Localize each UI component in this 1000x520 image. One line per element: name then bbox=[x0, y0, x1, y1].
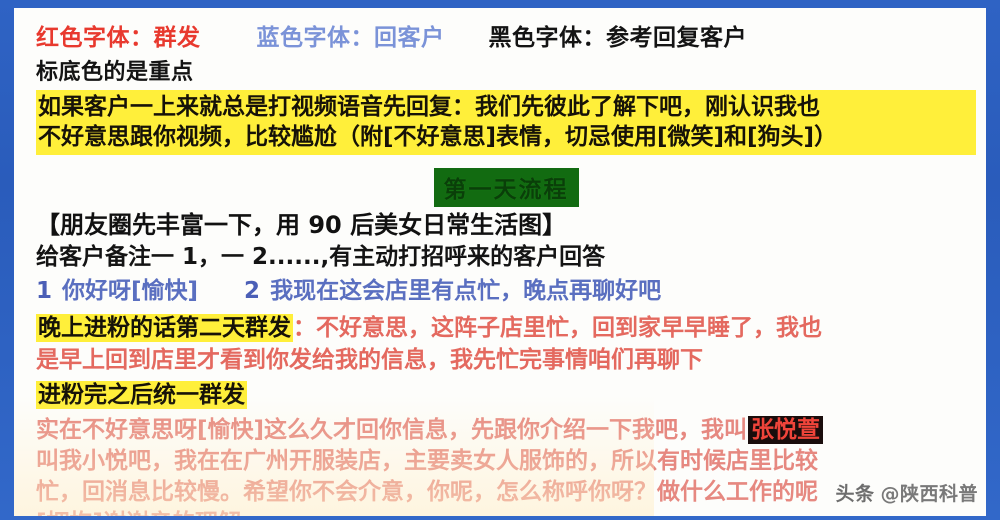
closing-line-1-text: 实在不好意思呀[愉快]这么久才回你信息，先跟你介绍一下我吧，我叫 bbox=[36, 417, 747, 443]
closing-line-4: [拥抱]谢谢亲的理解 bbox=[36, 508, 976, 516]
day-one-title-row: 第一天流程 bbox=[36, 166, 976, 208]
watermark: 头条 @陕西科普 bbox=[835, 479, 978, 506]
highlight-paragraph-line-2: 不好意思跟你视频，比较尴尬（附[不好意思]表情，切忌使用[微笑]和[狗头]） bbox=[38, 122, 972, 152]
second-day-red-line-2: 是早上回到店里才看到你发给我的信息，我先忙完事情咱们再聊下 bbox=[36, 344, 976, 376]
second-day-highlight-label: 晚上进粉的话第二天群发 bbox=[36, 314, 293, 342]
day-one-bullet-2: 给客户备注一 1，一 2......,有主动打招呼来的客户回答 bbox=[36, 242, 976, 273]
closing-line-1: 实在不好意思呀[愉快]这么久才回你信息，先跟你介绍一下我吧，我叫张悦萱 bbox=[36, 415, 976, 446]
second-day-colon: ： bbox=[293, 315, 316, 341]
slide-frame: 红色字体：群发 蓝色字体：回客户 黑色字体：参考回复客户 标底色的是重点 如果客… bbox=[0, 0, 1000, 520]
legend-note: 标底色的是重点 bbox=[36, 52, 976, 86]
reply-1-number: 1 bbox=[36, 278, 52, 304]
day-one-bullet-1: 【朋友圈先丰富一下，用 90 后美女日常生活图】 bbox=[36, 208, 976, 242]
slide-page: 红色字体：群发 蓝色字体：回客户 黑色字体：参考回复客户 标底色的是重点 如果客… bbox=[14, 8, 986, 516]
day-one-title: 第一天流程 bbox=[434, 168, 579, 207]
closing-line-2: 叫我小悦吧，我在在广州开服装店，主要卖女人服饰的，所以有时候店里比较 bbox=[36, 446, 976, 477]
reply-options-row: 1你好呀[愉快]2我现在这会店里有点忙，晚点再聊好吧 bbox=[36, 275, 976, 308]
second-day-row: 晚上进粉的话第二天群发：不好意思，这阵子店里忙，回到家早早睡了，我也 bbox=[36, 312, 976, 344]
highlight-paragraph-line-1: 如果客户一上来就总是打视频语音先回复：我们先彼此了解下吧，刚认识我也 bbox=[38, 92, 972, 122]
closing-name-chip: 张悦萱 bbox=[748, 416, 823, 444]
watermark-handle: @陕西科普 bbox=[880, 479, 978, 506]
after-fans-row: 进粉完之后统一群发 bbox=[36, 379, 976, 411]
legend-red-label: 红色字体：群发 bbox=[36, 18, 201, 52]
legend-blue-label: 蓝色字体：回客户 bbox=[257, 18, 445, 52]
legend-black-label: 黑色字体：参考回复客户 bbox=[489, 18, 748, 52]
reply-2-number: 2 bbox=[244, 278, 260, 304]
legend-row: 红色字体：群发 蓝色字体：回客户 黑色字体：参考回复客户 bbox=[36, 14, 976, 52]
watermark-brand: 头条 bbox=[835, 479, 874, 506]
after-fans-highlight-label: 进粉完之后统一群发 bbox=[36, 381, 247, 409]
reply-2-text: 我现在这会店里有点忙，晚点再聊好吧 bbox=[270, 278, 661, 304]
reply-1-text: 你好呀[愉快] bbox=[62, 278, 198, 304]
highlight-paragraph: 如果客户一上来就总是打视频语音先回复：我们先彼此了解下吧，刚认识我也 不好意思跟… bbox=[36, 90, 976, 155]
second-day-red-line-1: 不好意思，这阵子店里忙，回到家早早睡了，我也 bbox=[316, 315, 822, 341]
